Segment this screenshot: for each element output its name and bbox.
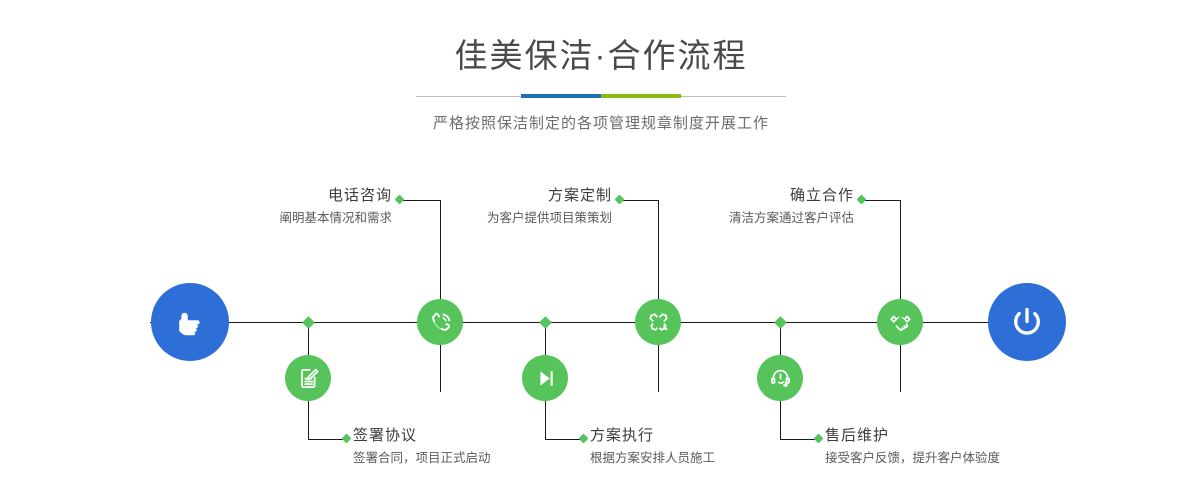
step-diamond-6 bbox=[774, 316, 787, 329]
step-leader-line-4 bbox=[545, 439, 583, 440]
step-subtitle-4: 根据方案安排人员施工 bbox=[590, 448, 715, 468]
step-leader-diamond-4 bbox=[579, 434, 589, 444]
step-title-6: 售后维护 bbox=[825, 426, 1000, 446]
step-subtitle-2: 签署合同，项目正式启动 bbox=[353, 448, 491, 468]
timeline-start-node[interactable] bbox=[151, 283, 229, 361]
cooperation-process-infographic: 佳美保洁·合作流程 严格按照保洁制定的各项管理规章制度开展工作 bbox=[0, 0, 1202, 502]
step-node-2[interactable] bbox=[285, 355, 331, 401]
step-label-4: 方案执行 根据方案安排人员施工 bbox=[590, 426, 715, 468]
step-subtitle-5: 清洁方案通过客户评估 bbox=[557, 208, 854, 228]
customer-service-add-icon bbox=[767, 365, 794, 392]
step-node-6[interactable] bbox=[757, 355, 803, 401]
step-leader-line-5 bbox=[862, 200, 900, 201]
step-leader-stem-2 bbox=[308, 401, 309, 439]
step-leader-diamond-6 bbox=[814, 434, 824, 444]
step-leader-stem-6 bbox=[780, 401, 781, 439]
document-pen-icon bbox=[295, 365, 322, 392]
step-leader-line-6 bbox=[780, 439, 818, 440]
step-leader-stem-4 bbox=[545, 401, 546, 439]
step-node-4[interactable] bbox=[522, 355, 568, 401]
step-stem-3 bbox=[658, 345, 659, 392]
step-title-4: 方案执行 bbox=[590, 426, 715, 446]
process-timeline: 电话咨询 阐明基本情况和需求 签署协 bbox=[0, 150, 1202, 502]
play-forward-icon bbox=[532, 365, 559, 392]
step-label-6: 售后维护 接受客户反馈，提升客户体验度 bbox=[825, 426, 1000, 468]
step-title-5: 确立合作 bbox=[557, 186, 854, 206]
step-subtitle-6: 接受客户反馈，提升客户体验度 bbox=[825, 448, 1000, 468]
step-label-2: 签署协议 签署合同，项目正式启动 bbox=[353, 426, 491, 468]
step-leader-stem-5 bbox=[900, 200, 901, 299]
step-leader-diamond-2 bbox=[342, 434, 352, 444]
step-label-5: 确立合作 清洁方案通过客户评估 bbox=[557, 186, 854, 228]
header: 佳美保洁·合作流程 严格按照保洁制定的各项管理规章制度开展工作 bbox=[0, 34, 1202, 135]
divider-segment-blue bbox=[521, 94, 601, 98]
step-diamond-4 bbox=[539, 316, 552, 329]
divider-segment-green bbox=[601, 94, 681, 98]
page-subtitle: 严格按照保洁制定的各项管理规章制度开展工作 bbox=[0, 113, 1202, 135]
step-stem-1 bbox=[440, 345, 441, 392]
page-title: 佳美保洁·合作流程 bbox=[0, 34, 1202, 78]
step-diamond-2 bbox=[302, 316, 315, 329]
power-icon bbox=[1006, 301, 1048, 343]
step-leader-line-2 bbox=[308, 439, 346, 440]
pointing-hand-icon bbox=[170, 302, 210, 342]
step-stem-5 bbox=[900, 345, 901, 392]
step-leader-diamond-5 bbox=[857, 195, 867, 205]
step-title-2: 签署协议 bbox=[353, 426, 491, 446]
title-divider bbox=[416, 90, 786, 104]
timeline-end-node[interactable] bbox=[988, 283, 1066, 361]
